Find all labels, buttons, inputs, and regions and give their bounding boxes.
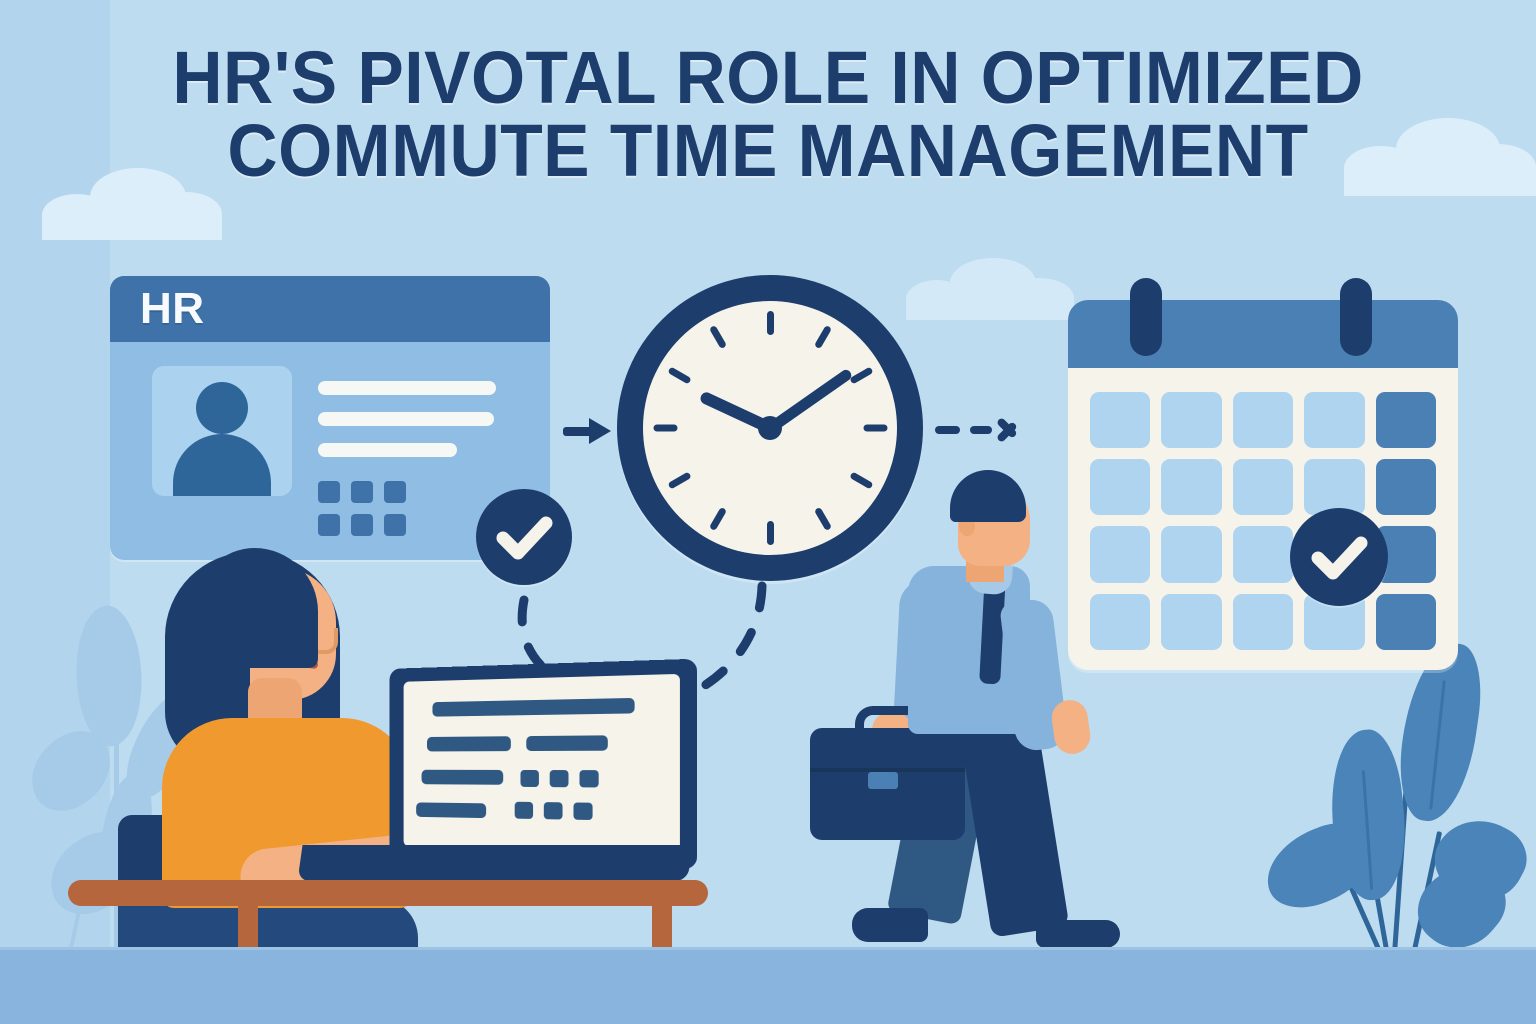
clock-tick [667,366,691,384]
person-avatar-icon-head [196,382,248,434]
calendar-cell[interactable] [1304,459,1364,515]
calendar-cell-highlighted[interactable] [1376,459,1436,515]
clock-center-pin [758,416,782,440]
hr-grid-square [351,514,373,536]
calendar-cell[interactable] [1161,526,1221,582]
page-title: HR'S PIVOTAL ROLE IN OPTIMIZED COMMUTE T… [0,42,1536,187]
screen-bar [416,802,486,818]
calendar-cell[interactable] [1090,594,1150,650]
hr-grid-square [318,481,340,503]
arrow-head [1001,415,1031,445]
clock-tick [849,471,873,489]
screen-square [520,770,538,787]
hr-grid-square [318,514,340,536]
hr-grid-square [384,481,406,503]
screen-square [515,802,533,819]
hr-text-line [318,412,494,426]
calendar-cell[interactable] [1090,392,1150,448]
title-line-1: HR'S PIVOTAL ROLE IN OPTIMIZED [46,42,1490,115]
hr-card-header-label: HR [140,284,205,334]
illustration-canvas: HR'S PIVOTAL ROLE IN OPTIMIZED COMMUTE T… [0,0,1536,1024]
screen-bar [526,735,608,751]
calendar-cell[interactable] [1161,392,1221,448]
calendar-ring [1340,278,1372,356]
calendar-cell[interactable] [1161,459,1221,515]
hr-text-line [318,381,496,395]
clock-tick [667,471,691,489]
plant-right [1256,640,1536,976]
arrow-clock-to-calendar [935,415,1035,445]
calendar-icon[interactable] [1068,300,1458,670]
wooden-desk [68,880,708,906]
man-front-shoe [1036,920,1120,948]
calendar-header [1068,300,1458,368]
woman-nose [316,628,338,654]
clock-tick [767,311,774,335]
calendar-cell[interactable] [1233,594,1293,650]
clock-tick [849,366,873,384]
desk-leg [652,903,672,953]
calendar-cell[interactable] [1090,526,1150,582]
hr-grid-square [384,514,406,536]
screen-square [550,770,569,787]
calendar-ring [1130,278,1162,356]
laptop-screen [404,674,680,854]
hr-text-line [318,443,457,457]
laptop-lid [389,659,697,870]
screen-square [573,802,592,820]
screen-bar [427,736,511,751]
screen-bar [432,698,634,717]
clock-tick [708,325,726,349]
floor [0,950,1536,1024]
calendar-cell[interactable] [1304,392,1364,448]
screen-bar [422,770,504,785]
desk-leg [238,903,258,953]
arrow-dash [970,426,992,434]
laptop-base [297,845,692,881]
cloud-mid-right [906,258,1074,320]
screen-square [579,770,598,787]
hr-grid-square [351,481,373,503]
screen-square [544,802,563,819]
clock-tick [813,325,831,349]
calendar-cell[interactable] [1233,392,1293,448]
arrow-head [589,418,611,444]
check-icon [476,489,572,585]
clock-tick [767,521,774,545]
clock-face [643,301,897,555]
wall-clock-icon [617,275,923,581]
avatar [152,366,292,496]
calendar-cell-highlighted[interactable] [1376,392,1436,448]
clock-tick [708,507,726,531]
person-avatar-icon-body [173,434,271,496]
clock-tick [813,507,831,531]
check-badge-calendar[interactable] [1290,508,1388,606]
arrow-dash [935,426,960,434]
briefcase-clasp [868,772,898,789]
clock-tick [653,425,677,432]
calendar-cell[interactable] [1233,459,1293,515]
man-back-shoe [852,908,928,942]
calendar-cell[interactable] [1161,594,1221,650]
title-line-2: COMMUTE TIME MANAGEMENT [46,115,1490,188]
calendar-cell[interactable] [1233,526,1293,582]
arrow-hr-to-clock [563,418,615,444]
check-icon [1290,508,1388,606]
check-badge-hr[interactable] [476,489,572,585]
clock-tick [863,425,887,432]
calendar-cell[interactable] [1090,459,1150,515]
